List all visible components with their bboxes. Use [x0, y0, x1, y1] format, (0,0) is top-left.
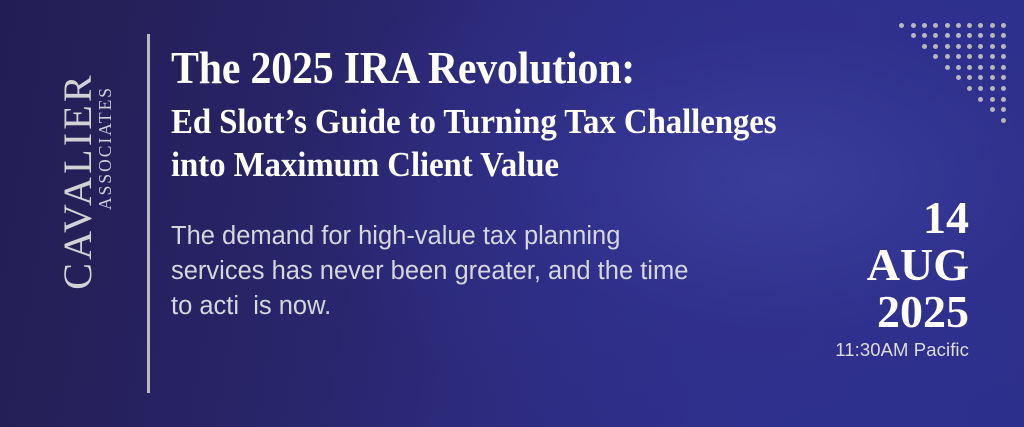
grid-dot [978, 23, 983, 28]
grid-dot [978, 75, 983, 80]
grid-dot [945, 54, 950, 59]
grid-dot [967, 44, 972, 49]
event-date-year: 2025 [835, 290, 969, 334]
grid-dot [967, 65, 972, 70]
brand-name: CAVALIER [58, 72, 98, 290]
dot-row [882, 94, 1006, 105]
event-description: The demand for high-value tax planning s… [171, 219, 861, 325]
webinar-promo-banner: CAVALIER ASSOCIATES The 2025 IRA Revolut… [0, 0, 1024, 427]
grid-dot [990, 97, 995, 102]
event-description-line-3: to acti is now. [171, 289, 861, 324]
grid-dot [1001, 65, 1006, 70]
grid-dot [956, 44, 961, 49]
banner-content: The 2025 IRA Revolution: Ed Slott’s Guid… [171, 46, 861, 324]
grid-dot [956, 33, 961, 38]
grid-dot [990, 75, 995, 80]
dot-row [882, 31, 1006, 42]
grid-dot [978, 65, 983, 70]
event-title-line-1: The 2025 IRA Revolution: [171, 46, 813, 91]
grid-dot [967, 86, 972, 91]
grid-dot [990, 44, 995, 49]
event-date-day: 14 [835, 196, 969, 240]
grid-dot [990, 86, 995, 91]
grid-dot [945, 23, 950, 28]
grid-dot [933, 44, 938, 49]
grid-dot [967, 75, 972, 80]
brand-qualifier-wrap: ASSOCIATES [31, 126, 181, 170]
grid-dot [990, 54, 995, 59]
grid-dot [956, 75, 961, 80]
grid-dot [956, 23, 961, 28]
event-title: The 2025 IRA Revolution: Ed Slott’s Guid… [171, 46, 861, 187]
dot-row [882, 73, 1006, 84]
grid-dot [956, 54, 961, 59]
grid-dot [1001, 75, 1006, 80]
dot-row [882, 84, 1006, 95]
grid-dot [990, 23, 995, 28]
grid-dot [990, 107, 995, 112]
vertical-divider [147, 34, 150, 393]
grid-dot [978, 97, 983, 102]
grid-dot [978, 33, 983, 38]
grid-dot [933, 23, 938, 28]
event-description-line-2: services has never been greater, and the… [171, 254, 861, 289]
grid-dot [967, 54, 972, 59]
grid-dot [1001, 86, 1006, 91]
dot-row [882, 20, 1006, 31]
grid-dot [990, 65, 995, 70]
grid-dot [1001, 107, 1006, 112]
grid-dot [1001, 118, 1006, 123]
brand-qualifier: ASSOCIATES [97, 86, 115, 210]
event-description-line-1: The demand for high-value tax planning [171, 219, 861, 254]
grid-dot [1001, 33, 1006, 38]
grid-dot [978, 54, 983, 59]
event-date-month: AUG [835, 243, 969, 287]
grid-dot [922, 23, 927, 28]
grid-dot [945, 65, 950, 70]
event-title-line-2: Ed Slott’s Guide to Turning Tax Challeng… [171, 100, 820, 143]
dot-row [882, 52, 1006, 63]
dot-row [882, 41, 1006, 52]
grid-dot [1001, 97, 1006, 102]
grid-dot [911, 33, 916, 38]
grid-dot [978, 44, 983, 49]
grid-dot [899, 23, 904, 28]
grid-dot [967, 33, 972, 38]
dot-row [882, 105, 1006, 116]
grid-dot [956, 65, 961, 70]
brand-logo: CAVALIER ASSOCIATES [0, 0, 148, 427]
grid-dot [922, 44, 927, 49]
grid-dot [911, 23, 916, 28]
dot-grid-decoration [882, 20, 1006, 138]
dot-row [882, 62, 1006, 73]
grid-dot [933, 33, 938, 38]
grid-dot [945, 44, 950, 49]
event-title-line-3: into Maximum Client Value [171, 143, 820, 186]
grid-dot [933, 54, 938, 59]
grid-dot [967, 23, 972, 28]
event-time: 11:30AM Pacific [835, 339, 969, 361]
grid-dot [978, 86, 983, 91]
grid-dot [922, 33, 927, 38]
event-date-block: 14 AUG 2025 11:30AM Pacific [835, 196, 969, 361]
grid-dot [945, 33, 950, 38]
grid-dot [1001, 44, 1006, 49]
grid-dot [990, 33, 995, 38]
grid-dot [1001, 23, 1006, 28]
grid-dot [1001, 54, 1006, 59]
dot-row [882, 115, 1006, 126]
